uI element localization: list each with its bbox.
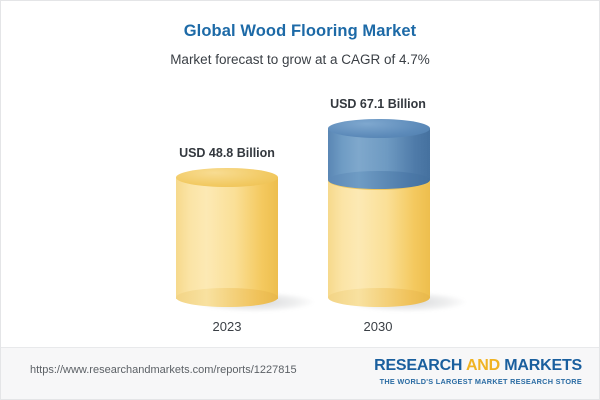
bar-value-label-2030: USD 67.1 Billion: [278, 97, 478, 111]
category-label-2030: 2030: [278, 319, 478, 334]
report-url-link[interactable]: https://www.researchandmarkets.com/repor…: [30, 364, 297, 376]
logo-word-markets: MARKETS: [504, 357, 582, 374]
bar-2030-bottom-cap: [328, 288, 430, 307]
bar-2023-body: [176, 177, 278, 299]
research-and-markets-logo[interactable]: RESEARCH AND MARKETS THE WORLD'S LARGEST…: [374, 358, 582, 386]
logo-word-and-text: AND: [466, 357, 500, 374]
footer-divider: [1, 347, 599, 348]
logo-tagline: THE WORLD'S LARGEST MARKET RESEARCH STOR…: [374, 377, 582, 386]
bar-2030[interactable]: [328, 119, 430, 305]
bar-2030-base-segment-body: [328, 180, 430, 298]
logo-word-research: RESEARCH: [374, 357, 462, 374]
logo-wordmark: RESEARCH AND MARKETS: [374, 358, 582, 375]
chart-canvas: Global Wood Flooring Market Market forec…: [0, 0, 600, 400]
bar-2023[interactable]: [176, 168, 278, 305]
bar-value-label-2023: USD 48.8 Billion: [127, 146, 327, 160]
bar-2030-growth-segment-bottom-cap: [328, 171, 430, 189]
bar-2030-growth-segment-top-cap: [328, 119, 430, 138]
bar-2023-top-cap: [176, 168, 278, 187]
bar-2023-bottom-cap: [176, 288, 278, 307]
chart-plot-area: USD 48.8 Billion 2023 USD 67.1 Billion: [0, 0, 600, 346]
